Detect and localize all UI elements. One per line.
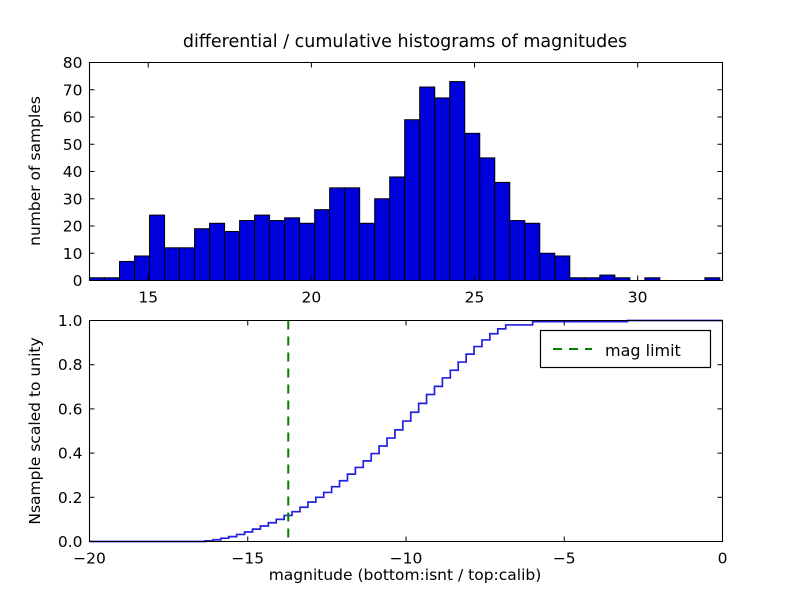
- bottom-x-tick-label: −5: [553, 550, 576, 568]
- top-y-tick-label: 50: [63, 136, 83, 154]
- histogram-bar: [210, 223, 225, 280]
- bottom-y-tick-label: 0.0: [58, 533, 83, 551]
- histogram-bar: [300, 223, 315, 280]
- legend-label-mag-limit: mag limit: [605, 341, 681, 360]
- histogram-bar: [465, 133, 480, 280]
- histogram-bar: [390, 177, 405, 281]
- histogram-bar: [480, 158, 495, 281]
- top-y-tick-label: 40: [63, 163, 83, 181]
- top-y-tick-label: 0: [73, 272, 83, 290]
- bottom-y-tick-label: 1.0: [58, 312, 83, 330]
- histogram-bar: [225, 231, 240, 280]
- histogram-bar: [435, 98, 450, 281]
- bottom-x-tick-label: −20: [73, 550, 106, 568]
- bottom-y-tick-label: 0.4: [58, 445, 83, 463]
- top-y-tick-label: 30: [63, 190, 83, 208]
- histogram-bar: [165, 248, 180, 281]
- histogram-bar: [255, 215, 270, 280]
- histogram-bar: [555, 256, 570, 281]
- histogram-bar: [150, 215, 165, 280]
- bottom-y-tick-label: 0.8: [58, 356, 83, 374]
- histogram-bar: [375, 199, 390, 281]
- histogram-bar: [120, 261, 135, 280]
- top-y-tick-label: 60: [63, 109, 83, 127]
- histogram-bar: [330, 188, 345, 281]
- histogram-bar: [405, 120, 420, 281]
- histogram-bar: [345, 188, 360, 281]
- bottom-x-tick-label: −15: [231, 550, 264, 568]
- histogram-bar: [450, 82, 465, 281]
- histogram-bar: [495, 182, 510, 280]
- top-axes: differential / cumulative histograms of …: [26, 32, 723, 307]
- histogram-bar: [525, 223, 540, 280]
- bottom-y-axis-label: Nsample scaled to unity: [26, 337, 44, 524]
- histogram-bar: [270, 221, 285, 281]
- histogram-bars: [90, 82, 720, 281]
- top-x-tick-label: 30: [628, 289, 648, 307]
- bottom-x-axis-label: magnitude (bottom:isnt / top:calib): [269, 566, 542, 584]
- bottom-axes: 0.00.20.40.60.81.0 −20−15−10−50 Nsample …: [26, 312, 727, 584]
- bottom-y-tick-label: 0.2: [58, 489, 83, 507]
- histogram-bar: [135, 256, 150, 281]
- histogram-bar: [180, 248, 195, 281]
- histogram-bar: [195, 229, 210, 281]
- top-y-tick-label: 70: [63, 81, 83, 99]
- histogram-bar: [360, 223, 375, 280]
- top-y-tick-label: 10: [63, 245, 83, 263]
- top-x-tick-label: 25: [465, 289, 485, 307]
- histogram-bar: [285, 218, 300, 281]
- histogram-bar: [510, 221, 525, 281]
- top-y-tick-label: 80: [63, 54, 83, 72]
- bottom-x-tick-label: −10: [390, 550, 423, 568]
- top-x-tick-label: 20: [302, 289, 322, 307]
- figure-canvas: differential / cumulative histograms of …: [0, 0, 800, 600]
- matplotlib-figure: differential / cumulative histograms of …: [0, 0, 800, 600]
- figure-title: differential / cumulative histograms of …: [183, 32, 627, 52]
- bottom-y-tick-label: 0.6: [58, 400, 83, 418]
- top-y-tick-label: 20: [63, 218, 83, 236]
- top-x-tick-label: 15: [138, 289, 158, 307]
- histogram-bar: [600, 275, 615, 280]
- histogram-bar: [420, 87, 435, 280]
- histogram-bar: [240, 221, 255, 281]
- top-y-axis-label: number of samples: [26, 96, 44, 246]
- bottom-x-tick-label: 0: [718, 550, 728, 568]
- histogram-bar: [540, 253, 555, 280]
- legend: mag limit: [541, 331, 711, 368]
- histogram-bar: [315, 210, 330, 281]
